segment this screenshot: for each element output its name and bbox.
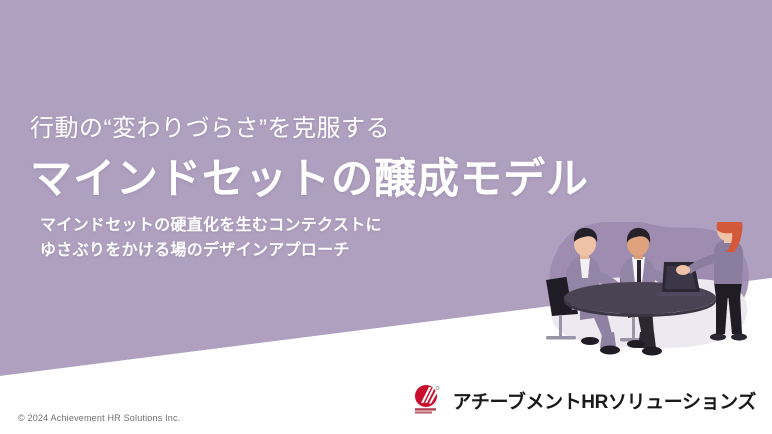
chair-left-base: [546, 336, 576, 340]
meeting-illustration-svg: [528, 222, 772, 362]
brand-lockup: アチーブメントHRソリューションズ: [412, 384, 756, 416]
person-center-shoe-back: [627, 340, 645, 348]
person-center-shoe-front: [642, 347, 662, 356]
chair-center-post: [632, 316, 635, 340]
logo-registered-mark: [436, 386, 439, 389]
person-right-hips: [714, 282, 742, 298]
meeting-illustration: [528, 222, 772, 362]
logo-wordmark-line-1: [415, 408, 436, 410]
slide-subcopy: マインドセットの硬直化を生むコンテクストに ゆさぶりをかける場のデザインアプロー…: [40, 214, 382, 264]
achievement-hr-solutions-logo-mark-icon: [412, 384, 444, 416]
slide-eyebrow: 行動の“変わりづらさ”を克服する: [30, 108, 390, 143]
laptop-base: [656, 292, 706, 296]
copyright-text: © 2024 Achievement HR Solutions Inc.: [18, 413, 180, 423]
person-left-shoe-front: [600, 346, 620, 355]
person-right-shoe-right: [731, 333, 747, 340]
person-right-hand: [676, 265, 690, 275]
brand-name-text: アチーブメントHRソリューションズ: [453, 387, 756, 414]
person-right-shoe-left: [710, 333, 726, 340]
person-left-shoe-back: [581, 337, 599, 345]
title-slide: 行動の“変わりづらさ”を克服する マインドセットの醸成モデル マインドセットの硬…: [0, 0, 772, 434]
person-right-top: [714, 240, 743, 284]
logo-wordmark-line-2: [415, 411, 432, 413]
slide-headline: マインドセットの醸成モデル: [30, 145, 589, 206]
chair-left-post: [559, 316, 562, 338]
